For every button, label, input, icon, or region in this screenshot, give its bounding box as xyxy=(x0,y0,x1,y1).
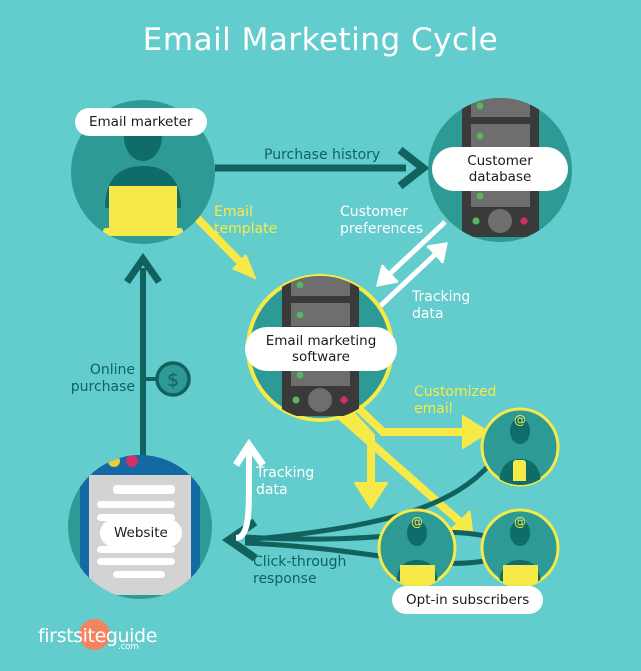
edge-label-email-template-line1: Email xyxy=(214,204,277,221)
label-opt-in-subscribers: Opt-in subscribers xyxy=(392,586,543,614)
label-website: Website xyxy=(100,519,182,547)
edge-label-purchase-history: Purchase history xyxy=(264,147,380,164)
svg-text:$: $ xyxy=(167,369,179,391)
edge-label-customer-preferences-line1: Customer xyxy=(340,204,423,221)
edge-label-customized-email-line1: Customized xyxy=(414,384,496,401)
infographic-canvas: Email Marketing Cycle $ xyxy=(0,0,641,671)
brand-logo[interactable]: firstsiteguide .com xyxy=(38,625,157,655)
label-email-marketing-software-line1: Email marketing xyxy=(259,333,383,349)
label-customer-database-line1: Customer xyxy=(446,153,554,169)
edge-label-customer-preferences: Customer preferences xyxy=(340,204,423,238)
node-subscriber-phone[interactable]: @ xyxy=(482,409,558,485)
logo-text-com: .com xyxy=(118,642,138,652)
edge-label-click-through-response: Click-through response xyxy=(253,554,346,588)
edge-label-online-purchase: Online purchase xyxy=(63,362,135,396)
edge-label-click-through-response-line2: response xyxy=(253,571,346,588)
edge-label-email-template: Email template xyxy=(214,204,277,238)
label-customer-database-line2: database xyxy=(446,169,554,185)
edge-label-tracking-data-database-line1: Tracking xyxy=(412,289,470,306)
edge-label-tracking-data-website: Tracking data xyxy=(256,465,314,499)
edge-label-customized-email: Customized email xyxy=(414,384,496,418)
at-sign-icon: @ xyxy=(411,515,423,529)
at-sign-icon: @ xyxy=(514,413,526,427)
logo-text-site: site xyxy=(73,625,106,647)
edge-label-customer-preferences-line2: preferences xyxy=(340,221,423,238)
edge-label-tracking-data-database: Tracking data xyxy=(412,289,470,323)
edge-label-online-purchase-line2: purchase xyxy=(63,379,135,396)
edge-online-purchase: $ xyxy=(127,259,189,460)
edge-label-customized-email-line2: email xyxy=(414,401,496,418)
edge-label-tracking-data-website-line1: Tracking xyxy=(256,465,314,482)
edge-label-tracking-data-website-line2: data xyxy=(256,482,314,499)
edge-label-click-through-response-line1: Click-through xyxy=(253,554,346,571)
edge-label-tracking-data-database-line2: data xyxy=(412,306,470,323)
at-sign-icon: @ xyxy=(514,515,526,529)
label-email-marketing-software-line2: software xyxy=(259,349,383,365)
edge-label-online-purchase-line1: Online xyxy=(63,362,135,379)
label-customer-database: Customer database xyxy=(432,147,568,191)
node-subscriber-laptop-left[interactable]: @ xyxy=(379,510,455,588)
label-email-marketing-software: Email marketing software xyxy=(245,327,397,371)
node-subscriber-laptop-right[interactable]: @ xyxy=(482,510,558,588)
edge-label-email-template-line2: template xyxy=(214,221,277,238)
label-email-marketer: Email marketer xyxy=(75,108,207,136)
logo-text-first: first xyxy=(38,625,73,647)
